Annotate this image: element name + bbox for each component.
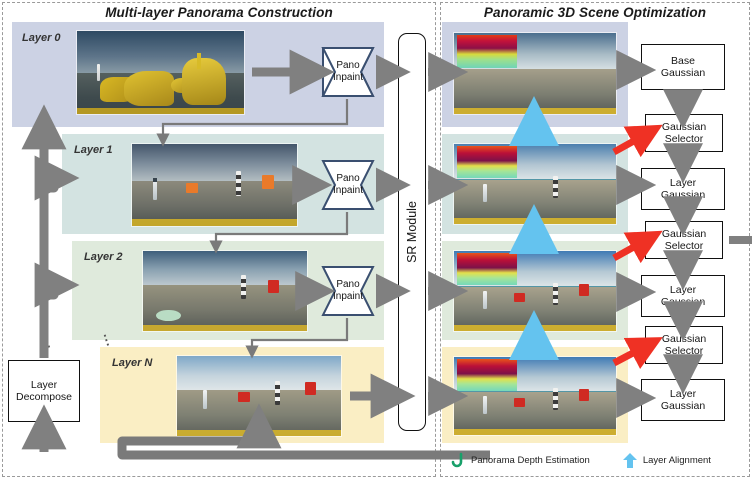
gaussian-selector-box-2[interactable]: Gaussian Selector [645, 221, 723, 259]
lighthouse-tower [553, 388, 558, 410]
layer-gaussian-line2: Gaussian [661, 189, 705, 201]
inpaint-mask-region [124, 71, 174, 106]
sign-marker [579, 284, 589, 296]
pano-inpaint-line1: Pano [336, 279, 359, 291]
panorama-layer-n-input [176, 355, 342, 437]
bottom-yellow-band [454, 218, 616, 224]
sky-region [177, 356, 341, 392]
legend-label-alignment: Layer Alignment [643, 455, 711, 466]
panel-right-title: Panoramic 3D Scene Optimization [440, 5, 750, 20]
base-gaussian-line1: Base [671, 55, 695, 67]
layer-gaussian-line1: Layer [670, 177, 696, 189]
depth-hook-icon [448, 451, 466, 469]
pano-inpaint-module-layer-0[interactable]: Pano Inpaint [320, 45, 376, 99]
layer-gaussian-line2: Gaussian [661, 400, 705, 412]
lighthouse-tower [483, 291, 487, 309]
layer-decompose-box[interactable]: Layer Decompose [8, 360, 80, 422]
diagram-root: Multi-layer Panorama Construction Panora… [0, 0, 752, 479]
layer-0-label: Layer 0 [22, 32, 61, 44]
layer-gaussian-box-1[interactable]: Layer Gaussian [641, 168, 725, 210]
lighthouse-tower [153, 180, 157, 200]
pano-inpaint-module-layer-1[interactable]: Pano Inpaint [320, 158, 376, 212]
lighthouse-tower [483, 396, 487, 414]
gaussian-selector-line2: Selector [665, 240, 704, 252]
sign-marker [186, 183, 198, 193]
layer-gaussian-line2: Gaussian [661, 296, 705, 308]
layer-n-label: Layer N [112, 357, 152, 369]
up-arrow-icon [622, 451, 638, 469]
layer-gaussian-box-3[interactable]: Layer Gaussian [641, 379, 725, 421]
inpaint-mask-region [182, 58, 225, 104]
panel-left-title: Multi-layer Panorama Construction [2, 5, 436, 20]
lighthouse-tower [553, 176, 558, 198]
layer-gaussian-line1: Layer [670, 284, 696, 296]
lighthouse-tower [553, 283, 558, 305]
pano-inpaint-line1: Pano [336, 60, 359, 72]
depth-map-inset [457, 35, 517, 67]
panorama-layer-1-output [453, 143, 617, 225]
sign-marker [514, 293, 525, 302]
pano-inpaint-line2: Inpaint [333, 185, 363, 197]
bottom-yellow-band [177, 430, 341, 436]
layer-decompose-line1: Layer [31, 379, 57, 391]
pano-inpaint-line2: Inpaint [333, 72, 363, 84]
depth-map-inset [457, 146, 517, 178]
base-gaussian-line2: Gaussian [661, 67, 705, 79]
layer-gaussian-box-2[interactable]: Layer Gaussian [641, 275, 725, 317]
bottom-yellow-band [454, 429, 616, 435]
lighthouse-tower [203, 390, 207, 409]
pano-inpaint-caption: Pano Inpaint [320, 158, 376, 212]
sign-marker [268, 280, 279, 293]
layer-2-label: Layer 2 [84, 251, 123, 263]
lighthouse-tower [275, 381, 280, 405]
gaussian-selector-box-3[interactable]: Gaussian Selector [645, 326, 723, 364]
pano-inpaint-line2: Inpaint [333, 291, 363, 303]
panorama-layer-1-input [131, 143, 298, 227]
gaussian-selector-line2: Selector [665, 133, 704, 145]
panorama-layer-0-output [453, 32, 617, 115]
panorama-layer-2-output [453, 250, 617, 332]
bottom-yellow-band [454, 108, 616, 114]
pano-inpaint-caption: Pano Inpaint [320, 45, 376, 99]
panorama-layer-2-input [142, 250, 308, 332]
bottom-yellow-band [132, 219, 297, 226]
depth-map-inset [457, 253, 517, 285]
legend-item-layer-alignment: Layer Alignment [622, 451, 711, 469]
lighthouse-tower [241, 275, 246, 299]
gaussian-selector-line1: Gaussian [662, 121, 706, 133]
layer-1-label: Layer 1 [74, 144, 113, 156]
sr-module[interactable]: SR Module [398, 33, 426, 431]
gaussian-selector-line2: Selector [665, 345, 704, 357]
layer-decompose-line2: Decompose [16, 391, 72, 403]
pano-inpaint-module-layer-2[interactable]: Pano Inpaint [320, 264, 376, 318]
bottom-yellow-band [454, 325, 616, 331]
sign-marker [238, 392, 250, 402]
lighthouse-top [153, 178, 157, 182]
bottom-yellow-band [77, 108, 244, 114]
sr-module-label: SR Module [405, 201, 419, 263]
base-gaussian-box[interactable]: Base Gaussian [641, 44, 725, 90]
inpaint-mask-region [197, 53, 201, 69]
legend-label-depth: Panorama Depth Estimation [471, 455, 590, 466]
layer-gaussian-line1: Layer [670, 388, 696, 400]
sign-marker [262, 175, 274, 189]
sign-marker [514, 398, 525, 407]
bottom-yellow-band [143, 325, 307, 331]
lighthouse-tower [97, 64, 100, 81]
lighthouse-tower [236, 171, 241, 196]
gaussian-selector-line1: Gaussian [662, 228, 706, 240]
panorama-layer-0-input [76, 30, 245, 115]
sign-marker [579, 389, 589, 401]
sky-region [143, 251, 307, 287]
sign-marker [305, 382, 316, 395]
pano-inpaint-line1: Pano [336, 173, 359, 185]
gaussian-selector-box-1[interactable]: Gaussian Selector [645, 114, 723, 152]
legend: Panorama Depth Estimation Layer Alignmen… [448, 449, 744, 471]
depth-map-inset [457, 359, 517, 390]
lighthouse-tower [483, 184, 487, 202]
panorama-layer-n-output [453, 356, 617, 436]
legend-item-panorama-depth-estimation: Panorama Depth Estimation [448, 451, 590, 469]
pano-inpaint-caption: Pano Inpaint [320, 264, 376, 318]
gaussian-selector-line1: Gaussian [662, 333, 706, 345]
